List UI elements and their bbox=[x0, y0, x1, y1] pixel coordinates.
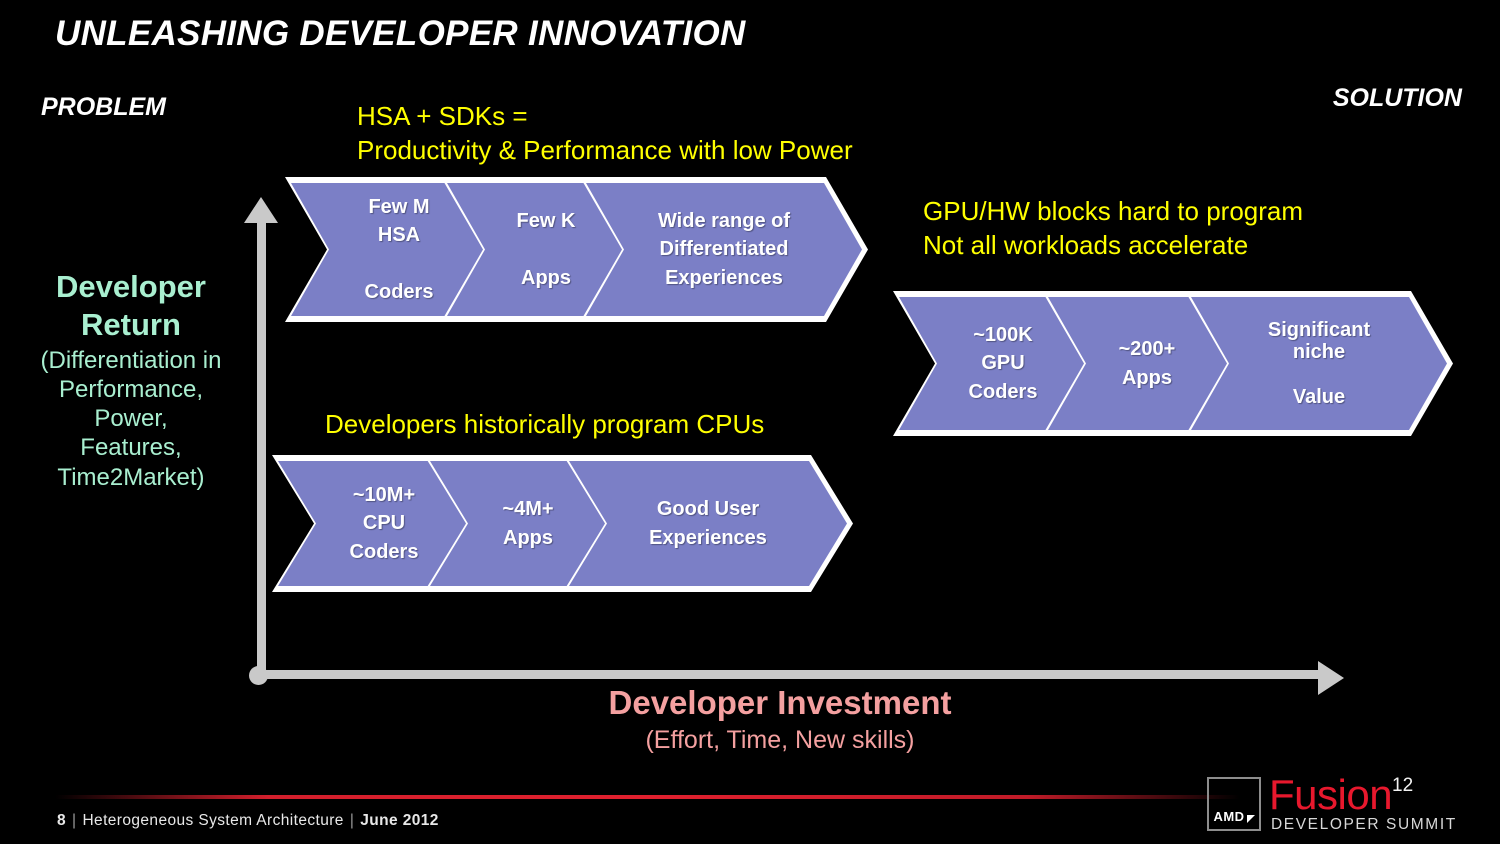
annotation-cpu: Developers historically program CPUs bbox=[325, 407, 764, 441]
chevron-cpu-3-label: Good User Experiences bbox=[649, 495, 767, 552]
developer-summit-text: DEVELOPER SUMMIT bbox=[1271, 816, 1457, 834]
chevron-hsa-2-label: Few K Apps bbox=[517, 207, 576, 292]
x-axis-arrowhead-icon bbox=[1318, 661, 1344, 695]
y-axis-line bbox=[257, 215, 266, 675]
footer-deck-title: Heterogeneous System Architecture bbox=[82, 812, 343, 829]
page-title: UNLEASHING DEVELOPER INNOVATION bbox=[55, 14, 746, 54]
y-axis-title: Developer Return (Differentiation in Per… bbox=[12, 268, 250, 492]
chevron-gpu-2-label: ~200+ Apps bbox=[1119, 335, 1176, 392]
y-axis-arrowhead-icon bbox=[244, 197, 278, 223]
chevron-cpu-1-label: ~10M+ CPU Coders bbox=[350, 481, 419, 566]
amd-arrow-icon bbox=[1247, 815, 1255, 823]
chevron-gpu-1-label: ~100K GPU Coders bbox=[969, 321, 1038, 406]
footer-separator-2: | bbox=[344, 812, 360, 829]
problem-label: PROBLEM bbox=[41, 93, 166, 122]
x-axis-line bbox=[262, 670, 1324, 679]
chevron-cpu-3[interactable]: Good User Experiences bbox=[563, 455, 853, 592]
slide-canvas: UNLEASHING DEVELOPER INNOVATION PROBLEM … bbox=[0, 0, 1500, 844]
x-axis-title-sub: (Effort, Time, New skills) bbox=[380, 725, 1180, 755]
amd-fusion-logo: AMD Fusion 12 DEVELOPER SUMMIT bbox=[1207, 775, 1445, 837]
axis-origin-dot bbox=[249, 666, 268, 685]
amd-logo-icon: AMD bbox=[1207, 777, 1261, 831]
footer-date: June 2012 bbox=[360, 812, 439, 829]
chevron-hsa-1-label: Few M HSA Coders bbox=[365, 193, 434, 307]
solution-label: SOLUTION bbox=[1333, 84, 1462, 113]
annotation-gpu: GPU/HW blocks hard to program Not all wo… bbox=[923, 194, 1303, 263]
fusion-wordmark: Fusion bbox=[1269, 771, 1392, 819]
chevron-cpu-2-label: ~4M+ Apps bbox=[502, 495, 553, 552]
x-axis-title-main: Developer Investment bbox=[380, 683, 1180, 723]
fusion-year-superscript: 12 bbox=[1392, 775, 1413, 797]
chevron-hsa-3[interactable]: Wide range of Differentiated Experiences bbox=[580, 177, 868, 322]
x-axis-title: Developer Investment (Effort, Time, New … bbox=[380, 683, 1180, 755]
footer-text: 8|Heterogeneous System Architecture|June… bbox=[57, 812, 439, 830]
annotation-hsa: HSA + SDKs = Productivity & Performance … bbox=[357, 99, 853, 168]
y-axis-title-sub: (Differentiation in Performance, Power, … bbox=[12, 346, 250, 492]
y-axis-title-main: Developer Return bbox=[12, 268, 250, 344]
footer-divider bbox=[55, 795, 1240, 799]
chevron-gpu-3-label: Significant niche Value bbox=[1268, 319, 1370, 409]
chevron-hsa-3-label: Wide range of Differentiated Experiences bbox=[658, 207, 790, 292]
footer-page-number: 8 bbox=[57, 812, 66, 829]
footer-separator-1: | bbox=[66, 812, 82, 829]
amd-wordmark: AMD bbox=[1213, 809, 1244, 824]
